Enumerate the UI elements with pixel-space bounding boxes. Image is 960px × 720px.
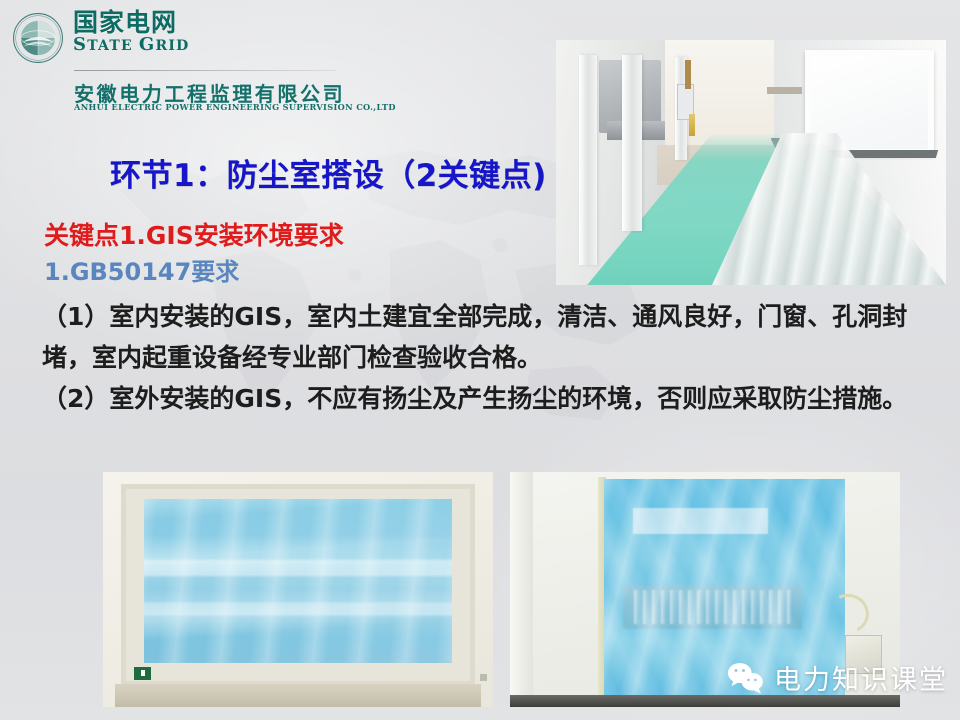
corridor-wall-strip: [767, 87, 802, 94]
wrapped-gis-floor: [510, 695, 900, 707]
wechat-watermark-text: 电力知识课堂: [774, 658, 948, 697]
standard-reference-line: 1.GB50147要求: [44, 252, 239, 287]
slide-canvas: 国家电网 STATE GRID 安徽电力工程监理有限公司 ANHUI ELECT…: [0, 0, 960, 720]
sealed-window-sill: [115, 684, 482, 708]
wrapped-gis-column: [510, 472, 533, 707]
company-name-en: ANHUI ELECTRIC POWER ENGINEERING SUPERVI…: [74, 102, 396, 112]
corridor-pillar-2: [622, 55, 642, 231]
sealed-window-green-tag: [134, 667, 151, 680]
brand-en-rid: RID: [156, 38, 190, 54]
wechat-watermark: 电力知识课堂: [726, 658, 948, 697]
corridor-yellow-marker: [689, 114, 695, 136]
state-grid-emblem-icon: [12, 12, 64, 64]
body-paragraph-2: （2）室外安装的GIS，不应有扬尘及产生扬尘的环境，否则应采取防尘措施。: [42, 378, 932, 419]
brand-en-g: G: [139, 34, 156, 55]
body-paragraph-1: （1）室内安装的GIS，室内土建宜全部完成，清洁、通风良好，门窗、孔洞封堵，室内…: [42, 296, 932, 378]
wechat-icon: [726, 661, 766, 695]
header-divider: [74, 70, 336, 71]
corridor-stand: [685, 60, 691, 89]
sealed-window-film-wrinkles: [144, 499, 453, 663]
sealed-window-blue-film: [144, 499, 453, 663]
corridor-pillar-1: [579, 55, 597, 266]
brand-name-en: STATE GRID: [73, 35, 189, 55]
sealed-window-frame: [121, 484, 476, 686]
brand-name-cn: 国家电网: [73, 10, 189, 36]
photo-corridor-green-floor-protection: [556, 40, 946, 285]
sealed-window-small-tag: [480, 674, 487, 681]
photo-window-sealed-blue-sheeting: [103, 472, 493, 707]
brand-en-tate: TATE: [87, 38, 139, 54]
brand-en-s: S: [73, 34, 87, 55]
brand-header: 国家电网 STATE GRID 安徽电力工程监理有限公司 ANHUI ELECT…: [12, 8, 342, 108]
slide-title: 环节1：防尘室搭设（2关键点): [110, 150, 547, 195]
key-point-heading: 关键点1.GIS安装环境要求: [44, 216, 344, 252]
